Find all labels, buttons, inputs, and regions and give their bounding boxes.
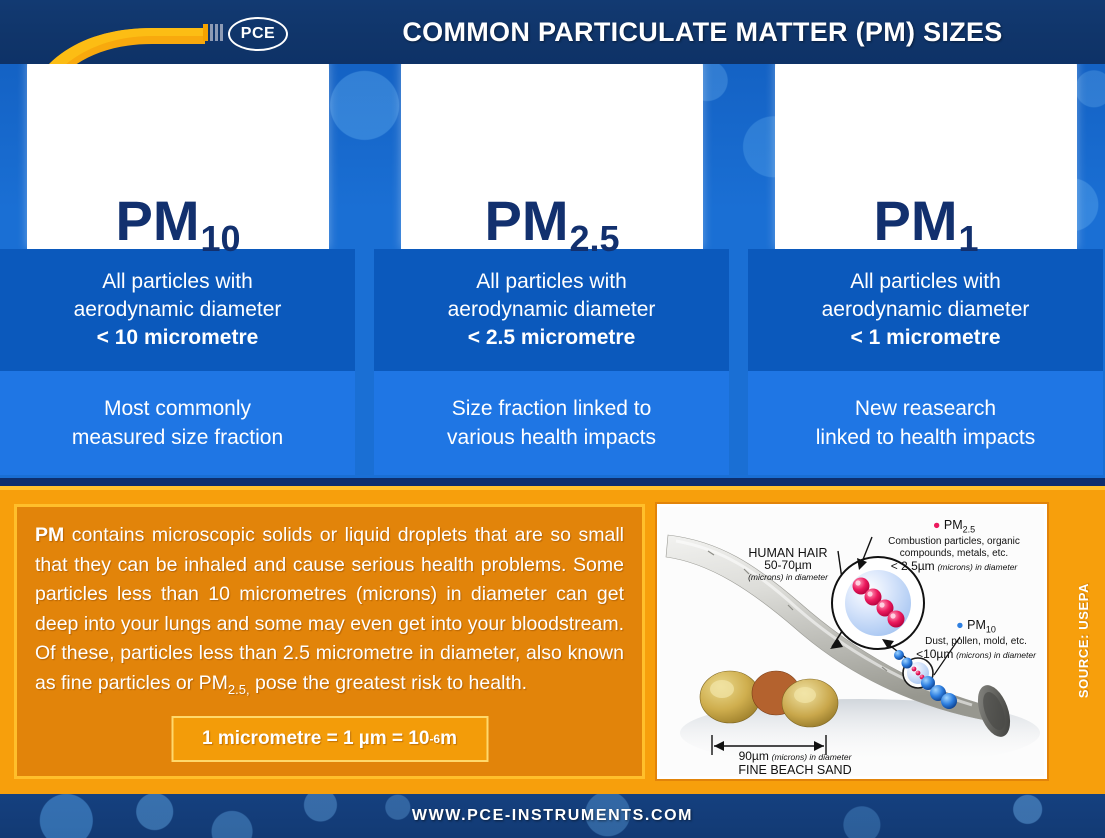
source-attribution: SOURCE: USEPA xyxy=(1071,486,1097,794)
info-panel: PM contains microscopic solids or liquid… xyxy=(0,486,1105,794)
info-text-box: PM contains microscopic solids or liquid… xyxy=(14,504,645,779)
card-definition: All particles with aerodynamic diameter … xyxy=(0,249,355,371)
info-paragraph-lead: PM xyxy=(35,524,64,546)
pm-cards-band: PM10 All particles with aerodynamic diam… xyxy=(0,64,1105,478)
card-title-subscript: 2.5 xyxy=(569,221,619,257)
page-footer: WWW.PCE-INSTRUMENTS.COM xyxy=(0,794,1105,838)
hair-size: 50-70µm xyxy=(723,559,853,571)
info-paragraph: PM contains microscopic solids or liquid… xyxy=(35,521,624,704)
diagram-label-sand: 90µm (microns) in diameter FINE BEACH SA… xyxy=(700,750,890,776)
pm10-title-line: ● PM10 xyxy=(910,619,1042,636)
card-definition-line1: All particles with xyxy=(102,268,253,296)
card-definition-line3: < 1 micrometre xyxy=(851,324,1001,352)
card-definition-line2: aerodynamic diameter xyxy=(74,296,282,324)
card-definition-line2: aerodynamic diameter xyxy=(448,296,656,324)
pm-card-pm1: PM1 All particles with aerodynamic diame… xyxy=(748,64,1103,475)
infographic-page: PCE COMMON PARTICULATE MATTER (PM) SIZES… xyxy=(0,0,1105,838)
card-note-line1: Size fraction linked to xyxy=(452,394,652,423)
card-note-line1: New reasearch xyxy=(855,394,996,423)
pm-card-pm10: PM10 All particles with aerodynamic diam… xyxy=(0,64,355,475)
pm25-desc1: Combustion particles, organic xyxy=(868,536,1040,548)
pm-card-pm25: PM2.5 All particles with aerodynamic dia… xyxy=(374,64,729,475)
info-paragraph-subscript: 2.5, xyxy=(228,681,250,696)
card-definition-line1: All particles with xyxy=(850,268,1001,296)
pm10-subscript: 10 xyxy=(986,625,996,635)
pm25-size: < 2.5µm xyxy=(891,559,935,573)
logo-bars-icon xyxy=(203,24,223,41)
pm10-dot-icon: ● xyxy=(956,618,964,632)
sand-size: 90µm xyxy=(739,749,769,763)
pce-logo: PCE xyxy=(228,17,288,51)
card-title-pm10: PM10 xyxy=(0,174,355,249)
page-header: PCE COMMON PARTICULATE MATTER (PM) SIZES xyxy=(0,0,1105,64)
card-title-subscript: 10 xyxy=(200,221,240,257)
diagram-label-human-hair: HUMAN HAIR 50-70µm (microns) in diameter xyxy=(723,547,853,583)
card-title-text: PM xyxy=(873,193,957,249)
card-definition-line2: aerodynamic diameter xyxy=(822,296,1030,324)
info-paragraph-body: contains microscopic solids or liquid dr… xyxy=(35,524,624,694)
formula-exponent: -6 xyxy=(429,732,440,746)
card-note-line2: measured size fraction xyxy=(72,423,283,452)
card-note-line2: linked to health impacts xyxy=(816,423,1035,452)
card-definition: All particles with aerodynamic diameter … xyxy=(748,249,1103,371)
card-title-pm25: PM2.5 xyxy=(374,174,729,249)
formula-suffix: m xyxy=(440,728,457,750)
card-definition: All particles with aerodynamic diameter … xyxy=(374,249,729,371)
card-note: Size fraction linked to various health i… xyxy=(374,371,729,475)
pm10-size-line: <10µm (microns) in diameter xyxy=(910,648,1042,662)
pm25-subscript: 2.5 xyxy=(963,525,976,535)
info-paragraph-tail: pose the greatest risk to health. xyxy=(250,672,528,694)
sand-size-line: 90µm (microns) in diameter xyxy=(700,750,890,764)
card-title-subscript: 1 xyxy=(958,221,978,257)
diagram-label-pm10: ● PM10 Dust, pollen, mold, etc. <10µm (m… xyxy=(910,619,1042,662)
card-title-text: PM xyxy=(484,193,568,249)
pm25-title: PM xyxy=(944,518,963,532)
card-note-line2: various health impacts xyxy=(447,423,656,452)
card-note: Most commonly measured size fraction xyxy=(0,371,355,475)
card-title-text: PM xyxy=(115,193,199,249)
pm25-title-line: ● PM2.5 xyxy=(868,519,1040,536)
pm10-size: <10µm xyxy=(916,647,953,661)
pm25-size-line: < 2.5µm (microns) in diameter xyxy=(868,560,1040,574)
usepa-diagram: HUMAN HAIR 50-70µm (microns) in diameter… xyxy=(657,504,1047,779)
website-url-link[interactable]: WWW.PCE-INSTRUMENTS.COM xyxy=(412,807,693,825)
card-definition-line1: All particles with xyxy=(476,268,627,296)
sand-note: (microns) in diameter xyxy=(772,752,852,762)
card-note-line1: Most commonly xyxy=(104,394,251,423)
pm10-note: (microns) in diameter xyxy=(956,650,1036,660)
pce-logo-text: PCE xyxy=(241,25,275,43)
diagram-label-pm25: ● PM2.5 Combustion particles, organic co… xyxy=(868,519,1040,574)
card-note: New reasearch linked to health impacts xyxy=(748,371,1103,475)
pm25-note: (microns) in diameter xyxy=(937,562,1017,572)
formula-prefix: 1 micrometre = 1 µm = 10 xyxy=(202,728,429,750)
card-title-pm1: PM1 xyxy=(748,174,1103,249)
card-definition-line3: < 10 micrometre xyxy=(97,324,259,352)
unit-formula-box: 1 micrometre = 1 µm = 10-6 m xyxy=(171,716,488,762)
source-text: SOURCE: USEPA xyxy=(1077,582,1092,697)
card-definition-line3: < 2.5 micrometre xyxy=(468,324,636,352)
pm25-dot-icon: ● xyxy=(933,518,941,532)
pm10-title: PM xyxy=(967,618,986,632)
sand-title: FINE BEACH SAND xyxy=(700,764,890,776)
hair-note: (microns) in diameter xyxy=(723,571,853,583)
page-title: COMMON PARTICULATE MATTER (PM) SIZES xyxy=(300,0,1105,64)
